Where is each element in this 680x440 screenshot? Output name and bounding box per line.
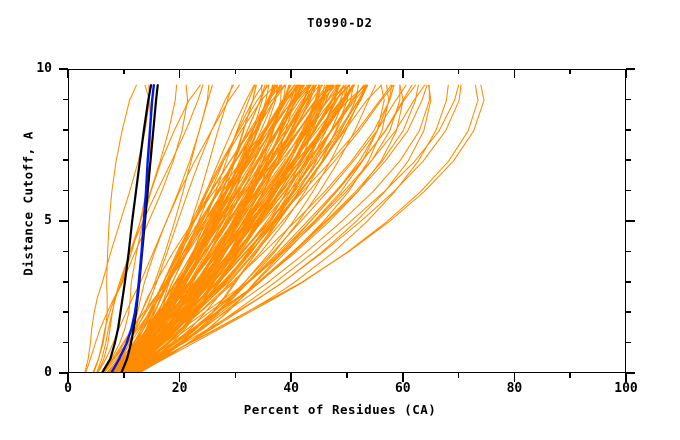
- y-tick-major: [59, 220, 68, 222]
- plot-area: [68, 69, 626, 373]
- page-title: T0990-D2: [0, 16, 680, 30]
- y-tick-minor: [63, 251, 68, 253]
- x-tick-label: 80: [494, 381, 534, 396]
- y-tick-label: 0: [22, 365, 52, 380]
- y-tick-minor: [63, 311, 68, 313]
- y-tick-minor-right: [626, 342, 631, 344]
- x-tick-major-top: [290, 69, 292, 78]
- y-tick-minor-right: [626, 311, 631, 313]
- x-tick-minor-top: [569, 69, 571, 74]
- y-tick-minor: [63, 281, 68, 283]
- y-tick-minor-right: [626, 281, 631, 283]
- y-tick-label: 10: [22, 61, 52, 76]
- x-tick-minor: [123, 373, 125, 378]
- chart-page: T0990-D2 0204060801000510 Percent of Res…: [0, 0, 680, 440]
- y-axis-title: Distance Cutoff, A: [21, 84, 36, 324]
- y-tick-major-right: [626, 68, 635, 70]
- y-tick-minor-right: [626, 190, 631, 192]
- y-tick-minor: [63, 129, 68, 131]
- y-tick-minor: [63, 190, 68, 192]
- y-tick-major-right: [626, 220, 635, 222]
- x-tick-minor-top: [235, 69, 237, 74]
- x-tick-minor: [458, 373, 460, 378]
- y-tick-minor: [63, 342, 68, 344]
- x-tick-label: 40: [271, 381, 311, 396]
- y-tick-minor-right: [626, 99, 631, 101]
- x-tick-minor-top: [458, 69, 460, 74]
- x-tick-major-top: [514, 69, 516, 78]
- y-tick-minor: [63, 159, 68, 161]
- x-tick-minor-top: [346, 69, 348, 74]
- y-tick-major: [59, 372, 68, 374]
- x-tick-minor: [235, 373, 237, 378]
- x-tick-label: 100: [606, 381, 646, 396]
- plot-curves: [69, 70, 626, 373]
- x-tick-major-top: [402, 69, 404, 78]
- y-tick-minor-right: [626, 159, 631, 161]
- x-tick-label: 20: [160, 381, 200, 396]
- x-tick-minor: [569, 373, 571, 378]
- y-tick-major: [59, 68, 68, 70]
- x-axis-title: Percent of Residues (CA): [0, 402, 680, 417]
- x-tick-major-top: [179, 69, 181, 78]
- x-tick-major-top: [67, 69, 69, 78]
- y-tick-minor-right: [626, 129, 631, 131]
- x-tick-minor: [346, 373, 348, 378]
- y-tick-minor-right: [626, 251, 631, 253]
- x-tick-label: 0: [48, 381, 88, 396]
- x-tick-label: 60: [383, 381, 423, 396]
- x-tick-major-top: [625, 69, 627, 78]
- y-tick-minor: [63, 99, 68, 101]
- x-tick-minor-top: [123, 69, 125, 74]
- y-tick-major-right: [626, 372, 635, 374]
